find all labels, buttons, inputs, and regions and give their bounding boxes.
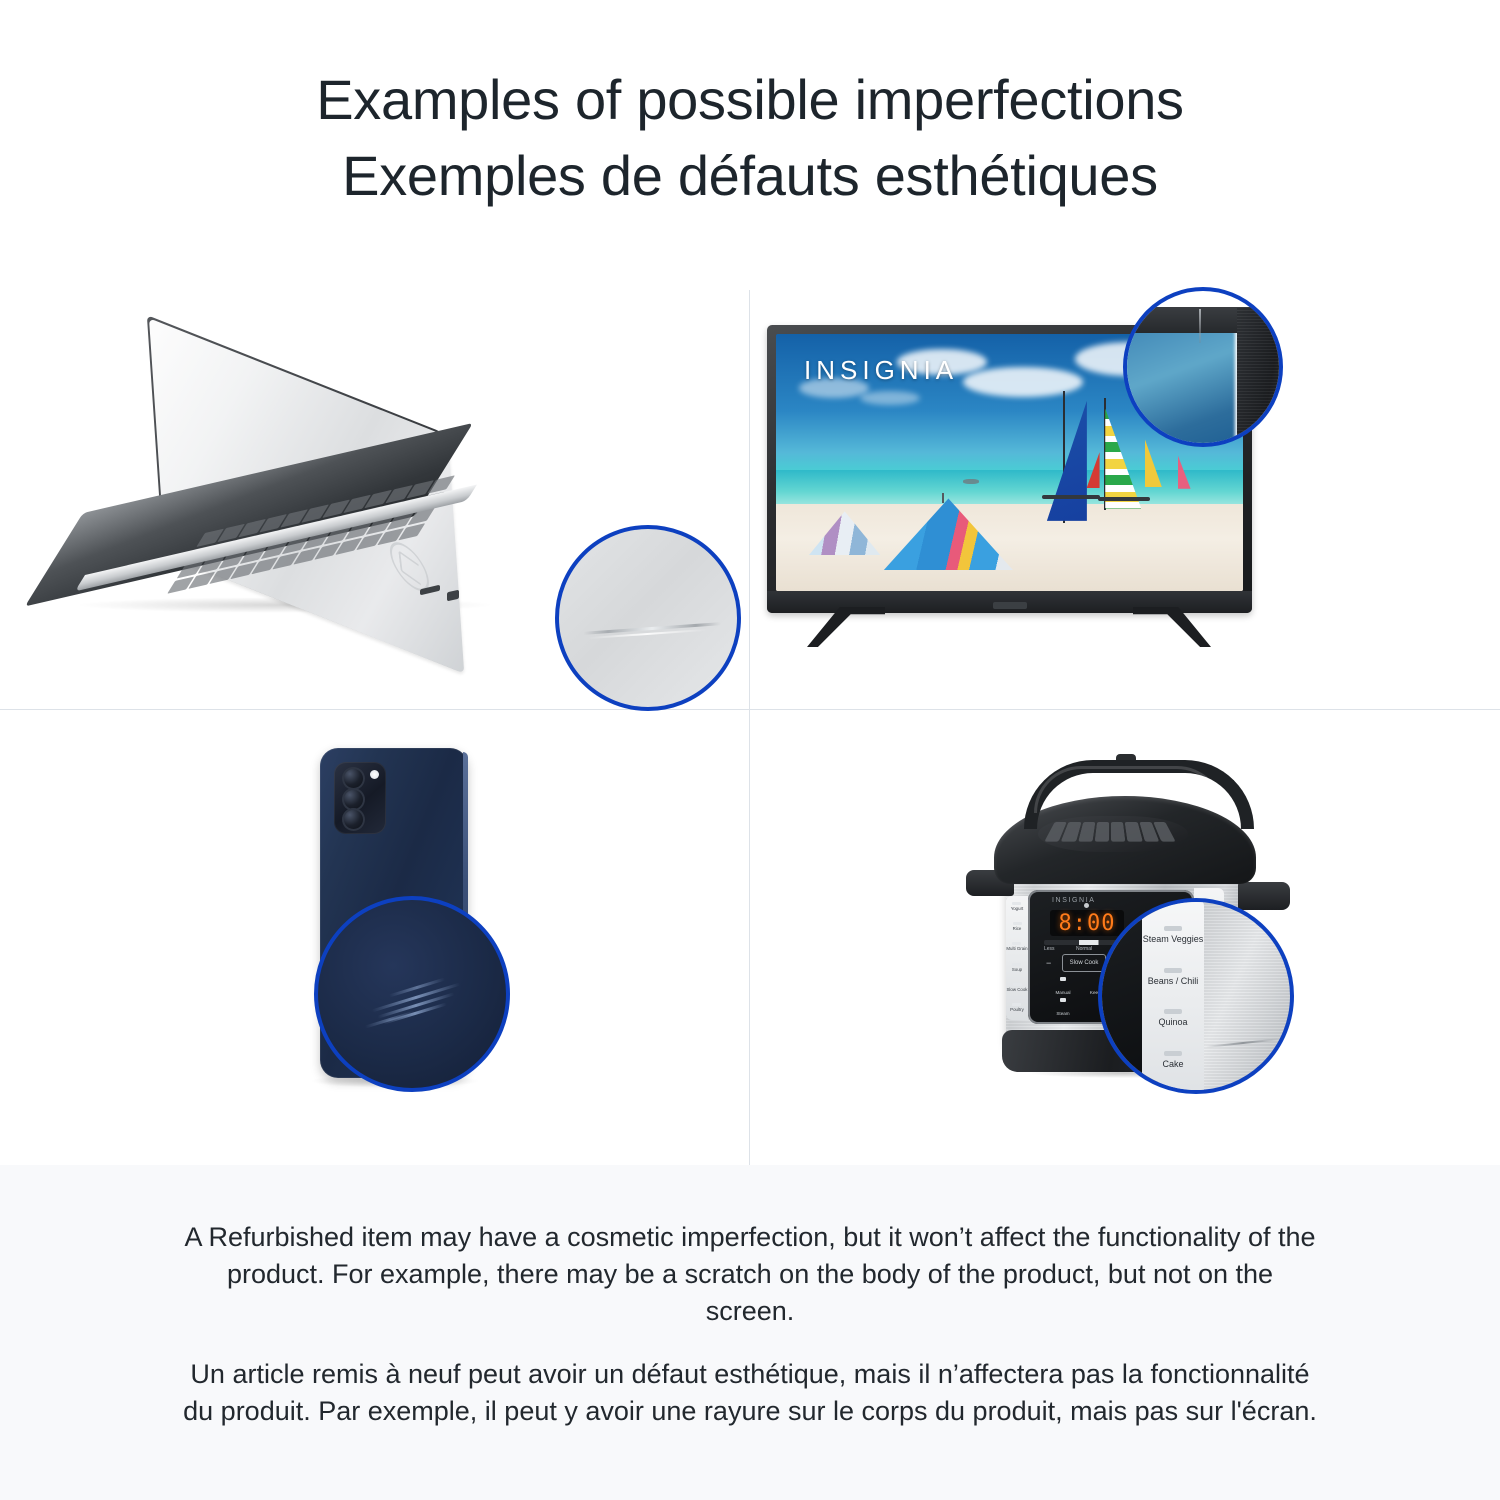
magnified-rail-label: Steam Veggies	[1143, 934, 1204, 945]
cooker-rail-label: Multi Grain	[1006, 946, 1027, 951]
paragraph-french: Un article remis à neuf peut avoir un dé…	[180, 1356, 1320, 1430]
cloud-icon	[963, 367, 1083, 397]
magnified-rail-button[interactable]: Beans / Chili	[1148, 968, 1199, 987]
boat-hull	[1098, 497, 1150, 501]
cooker-bar-label-normal: Normal	[1076, 946, 1092, 952]
camera-flash-icon	[370, 770, 379, 779]
camera-lens-icon	[342, 767, 365, 790]
cooker-bar-label-less: Less	[1044, 946, 1055, 952]
title-french: Exemples de défauts esthétiques	[342, 138, 1158, 214]
cloud-icon	[860, 391, 920, 405]
cooker-rail-label: Soup	[1012, 967, 1022, 972]
distant-boat	[963, 479, 979, 484]
magnified-button-rail: Steam Veggies Beans / Chili Quinoa Cake	[1142, 898, 1204, 1094]
tv-magnified-content	[1127, 291, 1279, 443]
cooker-rail-label: Rice	[1013, 926, 1022, 931]
tv-cell: INSIGNIA	[750, 255, 1500, 710]
cooker-left-rail: Yogurt Rice Multi Grain Soup Slow Cook P…	[1006, 896, 1028, 1018]
magnified-screen-area	[1123, 325, 1235, 447]
cooker-handle-highlight	[1034, 766, 1224, 813]
tv-image: INSIGNIA	[755, 283, 1275, 658]
ocean	[776, 470, 1243, 506]
laptop-magnifier-circle	[555, 525, 741, 711]
phone-image	[296, 748, 496, 1118]
tv-ir-sensor	[993, 602, 1027, 609]
camera-lens-icon	[342, 808, 365, 831]
page-title: Examples of possible imperfections Exemp…	[0, 0, 1500, 255]
tv-bezel-scratch	[1199, 309, 1201, 343]
cooker-rail-label: Yogurt	[1011, 906, 1024, 911]
refurbished-imperfections-infographic: Examples of possible imperfections Exemp…	[0, 0, 1500, 1500]
cooker-rail-button[interactable]: Slow Cook	[1007, 983, 1028, 992]
cooker-rail-button[interactable]: Yogurt	[1011, 902, 1024, 911]
magnified-rail-button[interactable]: Quinoa	[1158, 1009, 1187, 1028]
footer-description: A Refurbished item may have a cosmetic i…	[0, 1165, 1500, 1500]
cooker-button-label: Steam	[1056, 1011, 1069, 1016]
bezel-texture	[1237, 307, 1283, 447]
paragraph-english: A Refurbished item may have a cosmetic i…	[180, 1219, 1320, 1330]
phone-magnifier-circle	[314, 896, 510, 1092]
cooker-minus-icon[interactable]: −	[1046, 958, 1051, 968]
laptop-image	[95, 325, 535, 655]
tv-leg-right	[1133, 607, 1211, 647]
tv-magnifier-circle	[1123, 287, 1283, 447]
magnified-rail-button[interactable]: Cake	[1162, 1051, 1183, 1070]
cooker-rail-button[interactable]: Poultry	[1010, 1003, 1024, 1012]
laptop-cell	[0, 255, 750, 710]
title-english: Examples of possible imperfections	[316, 62, 1184, 138]
cooker-button[interactable]: Manual	[1040, 976, 1086, 995]
magnified-rail-label: Cake	[1162, 1059, 1183, 1070]
phone-cell	[0, 710, 750, 1165]
cooker-brand-logo: INSIGNIA	[1052, 897, 1096, 904]
cooker-magnifier-circle: Delay Slow Cook Steam Veggies Beans / Ch…	[1098, 898, 1294, 1094]
cooker-status-led	[1084, 903, 1089, 908]
yellow-sail	[1145, 439, 1162, 487]
magnified-label: Slow Cook	[1098, 970, 1114, 990]
examples-grid: INSIGNIA	[0, 255, 1500, 1165]
tv-leg-left	[807, 607, 885, 647]
cooker-button-label: Manual	[1055, 990, 1070, 995]
cooker-rail-button[interactable]: Rice	[1013, 922, 1022, 931]
cooker-mode-readout: Slow Cook	[1062, 954, 1106, 972]
cooker-cell: INSIGNIA 8:00 Less Normal More − + Slow …	[750, 710, 1500, 1165]
camera-module	[334, 762, 386, 834]
cooker-rail-button[interactable]: Multi Grain	[1006, 942, 1027, 951]
cooker-rail-label: Poultry	[1010, 1007, 1024, 1012]
tent-pole	[942, 493, 944, 503]
tv-brand-logo: INSIGNIA	[804, 355, 958, 386]
cooker-button[interactable]: Steam	[1040, 997, 1086, 1016]
cooker-rail-button[interactable]: Soup	[1012, 963, 1022, 972]
magnified-rail-label: Quinoa	[1158, 1017, 1187, 1028]
boat-hull	[1042, 495, 1100, 499]
cooker-rail-label: Slow Cook	[1007, 987, 1028, 992]
pressure-cooker-image: INSIGNIA 8:00 Less Normal More − + Slow …	[946, 738, 1306, 1118]
blue-sail	[1047, 401, 1087, 521]
magnified-rail-button[interactable]: Steam Veggies	[1143, 926, 1204, 945]
magnified-rail-label: Beans / Chili	[1148, 976, 1199, 987]
